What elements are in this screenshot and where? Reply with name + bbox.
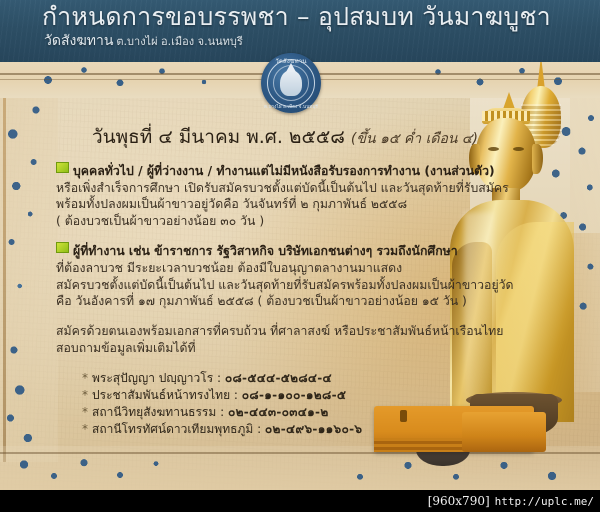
contact-number[interactable]: ๐๒-๔๙๖-๑๑๖๐-๖	[265, 422, 362, 436]
seal-top-text: วัดสังฆทาน	[261, 56, 321, 66]
green-square-bullet-icon	[56, 242, 69, 253]
event-lunar-date: (ขึ้น ๑๕ ค่ำ เดือน ๔)	[351, 131, 478, 147]
contact-separator: :	[253, 422, 265, 436]
contact-item: *สถานีโทรทัศน์ดาวเทียมพุทธภูมิ : ๐๒-๔๙๖-…	[82, 421, 526, 438]
section-line: บุคคลทั่วไป / ผู้ที่ว่างงาน / ทำงานแต่ไม…	[73, 164, 495, 178]
contact-label: ประชาสัมพันธ์หน้าทรงไทย	[92, 388, 230, 402]
contact-label: พระสุปัญญา ปญฺญาวโร	[92, 371, 213, 385]
section-line: คือ วันอังคารที่ ๑๗ กุมภาพันธ์ ๒๕๕๘ ( ต้…	[56, 293, 526, 310]
seal-stupa-icon	[280, 70, 302, 96]
contact-label: สถานีวิทยุสังฆทานธรรม	[92, 405, 216, 419]
temple-name: วัดสังฆทาน	[44, 33, 113, 49]
flyer-card: กำหนดการขอบรรพชา – อุปสมบท วันมาฆบูชา วั…	[0, 0, 600, 490]
content-area: วันพุธที่ ๔ มีนาคม พ.ศ. ๒๕๕๘ (ขึ้น ๑๕ ค่…	[56, 100, 526, 438]
image-dimensions-label: [960x790]	[428, 494, 490, 508]
contact-item: *สถานีวิทยุสังฆทานธรรม : ๐๒-๔๔๓-๐๓๔๑-๒	[82, 404, 526, 421]
apply-note-line-1: สมัครด้วยตนเองพร้อมเอกสารที่ครบถ้วน ที่ศ…	[56, 323, 526, 340]
contact-number[interactable]: ๐๘-๑-๑๐๐-๑๒๘-๕	[242, 388, 346, 402]
contact-item: *พระสุปัญญา ปญฺญาวโร : ๐๘-๕๔๔-๕๒๘๔-๔	[82, 370, 526, 387]
section-heading: บุคคลทั่วไป / ผู้ที่ว่างงาน / ทำงานแต่ไม…	[56, 162, 526, 180]
green-square-bullet-icon	[56, 162, 69, 173]
contact-separator: :	[213, 371, 225, 385]
section-line: สมัครบวชตั้งแต่บัดนี้เป็นต้นไป และวันสุด…	[56, 277, 526, 294]
event-date: วันพุธที่ ๔ มีนาคม พ.ศ. ๒๕๕๘	[92, 126, 345, 148]
section-line: พร้อมทั้งปลงผมเป็นผ้าขาวอยู่วัดคือ วันจั…	[56, 196, 526, 213]
image-source-url[interactable]: http://uplc.me/	[495, 495, 594, 508]
header-band: กำหนดการขอบรรพชา – อุปสมบท วันมาฆบูชา วั…	[0, 0, 600, 62]
asterisk-icon: *	[82, 371, 88, 385]
buddha-ear-right	[532, 144, 543, 174]
asterisk-icon: *	[82, 422, 88, 436]
contact-number[interactable]: ๐๒-๔๔๓-๐๓๔๑-๒	[228, 405, 329, 419]
contact-label: สถานีโทรทัศน์ดาวเทียมพุทธภูมิ	[92, 422, 253, 436]
section-line: ผู้ที่ทำงาน เช่น ข้าราชการ รัฐวิสาหกิจ บ…	[73, 244, 458, 258]
section-line: ที่ต้องลาบวช มีระยะเวลาบวชน้อย ต้องมีใบอ…	[56, 260, 526, 277]
contact-separator: :	[230, 388, 242, 402]
poster-title: กำหนดการขอบรรพชา – อุปสมบท วันมาฆบูชา	[42, 1, 582, 32]
poster-image: กำหนดการขอบรรพชา – อุปสมบท วันมาฆบูชา วั…	[0, 0, 600, 512]
section-line: ( ต้องบวชเป็นผ้าขาวอย่างน้อย ๓๐ วัน )	[56, 213, 526, 230]
asterisk-icon: *	[82, 388, 88, 402]
contact-separator: :	[216, 405, 228, 419]
contact-number[interactable]: ๐๘-๕๔๔-๕๒๘๔-๔	[225, 371, 332, 385]
contact-item: *ประชาสัมพันธ์หน้าทรงไทย : ๐๘-๑-๑๐๐-๑๒๘-…	[82, 387, 526, 404]
contact-list: *พระสุปัญญา ปญฺญาวโร : ๐๘-๕๔๔-๕๒๘๔-๔ *ปร…	[82, 370, 526, 438]
temple-subtitle: วัดสังฆทานต.บางไผ่ อ.เมือง จ.นนทบุรี	[44, 33, 243, 50]
section-line: หรือเพิ่งสำเร็จการศึกษา เปิดรับสมัครบวชต…	[56, 180, 526, 197]
application-note: สมัครด้วยตนเองพร้อมเอกสารที่ครบถ้วน ที่ศ…	[56, 323, 526, 357]
left-floral-border	[0, 62, 58, 462]
asterisk-icon: *	[82, 405, 88, 419]
section-employed-students: ผู้ที่ทำงาน เช่น ข้าราชการ รัฐวิสาหกิจ บ…	[56, 242, 526, 309]
event-date-line: วันพุธที่ ๔ มีนาคม พ.ศ. ๒๕๕๘ (ขึ้น ๑๕ ค่…	[92, 124, 526, 152]
apply-note-line-2: สอบถามข้อมูลเพิ่มเติมได้ที่	[56, 340, 526, 357]
temple-location: ต.บางไผ่ อ.เมือง จ.นนทบุรี	[116, 35, 242, 48]
image-footer-bar: [960x790] http://uplc.me/	[0, 490, 600, 512]
section-heading: ผู้ที่ทำงาน เช่น ข้าราชการ รัฐวิสาหกิจ บ…	[56, 242, 526, 260]
section-general-public: บุคคลทั่วไป / ผู้ที่ว่างงาน / ทำงานแต่ไม…	[56, 162, 526, 229]
